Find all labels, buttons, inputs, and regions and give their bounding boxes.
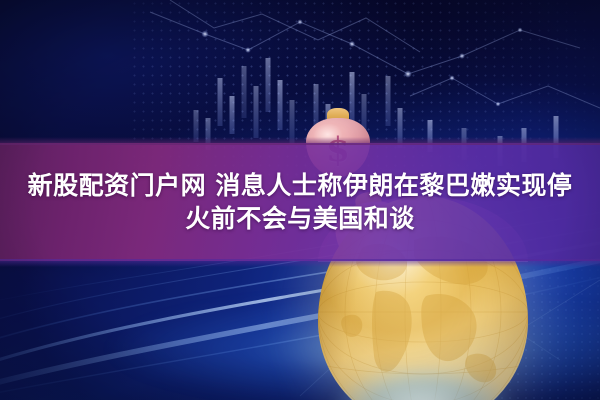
vignette-overlay bbox=[0, 0, 600, 400]
news-banner-image: $ $ bbox=[0, 0, 600, 400]
